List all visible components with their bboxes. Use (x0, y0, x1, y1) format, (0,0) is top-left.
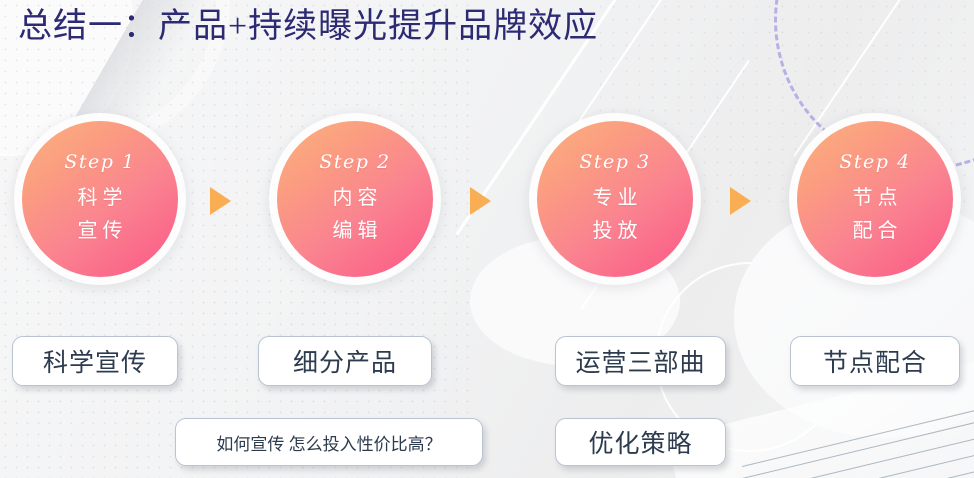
step-circle-2-fill: Step 2 内容 编辑 (277, 121, 433, 277)
step-2-line1: 内容 (328, 182, 383, 214)
pill-yunying-sanbuqu[interactable]: 运营三部曲 (555, 336, 726, 386)
pill-question-how-to-promote[interactable]: 如何宣传 怎么投入性价比高？ (175, 418, 483, 466)
step-4-line1: 节点 (848, 182, 903, 214)
step-flow: Step 1 科学 宣传 Step 2 内容 编辑 Step 3 专业 投放 (0, 113, 974, 288)
flow-arrow-3-icon (730, 187, 751, 215)
step-1-line1: 科学 (73, 182, 128, 214)
step-4-line2: 配合 (848, 215, 903, 247)
page-title: 总结一：产品+持续曝光提升品牌效应 (18, 6, 598, 47)
decorative-hairline-4 (762, 441, 974, 478)
step-circle-4-fill: Step 4 节点 配合 (797, 121, 953, 277)
step-3-label: Step 3 (579, 151, 650, 173)
step-2-line2: 编辑 (328, 215, 383, 247)
step-3-line1: 专业 (588, 182, 643, 214)
step-1-label: Step 1 (64, 151, 135, 173)
step-circle-1[interactable]: Step 1 科学 宣传 (14, 113, 186, 285)
decorative-hairline-5 (772, 455, 974, 478)
step-2-label: Step 2 (319, 151, 390, 173)
slide-canvas: 总结一：产品+持续曝光提升品牌效应 Step 1 科学 宣传 Step 2 内容… (0, 0, 974, 478)
step-circle-2[interactable]: Step 2 内容 编辑 (269, 113, 441, 285)
step-1-line2: 宣传 (73, 215, 128, 247)
pill-youhua-celue[interactable]: 优化策略 (555, 418, 726, 466)
pill-jiedian-peihe[interactable]: 节点配合 (790, 336, 960, 386)
step-circle-1-fill: Step 1 科学 宣传 (22, 121, 178, 277)
step-circle-3[interactable]: Step 3 专业 投放 (529, 113, 701, 285)
step-3-line2: 投放 (588, 215, 643, 247)
step-circle-3-fill: Step 3 专业 投放 (537, 121, 693, 277)
flow-arrow-1-icon (210, 187, 231, 215)
pill-kexue-xuanchuan[interactable]: 科学宣传 (12, 336, 178, 386)
step-circle-4[interactable]: Step 4 节点 配合 (789, 113, 961, 285)
flow-arrow-2-icon (470, 187, 491, 215)
step-4-label: Step 4 (839, 151, 910, 173)
pill-xifen-chanpin[interactable]: 细分产品 (258, 336, 432, 386)
